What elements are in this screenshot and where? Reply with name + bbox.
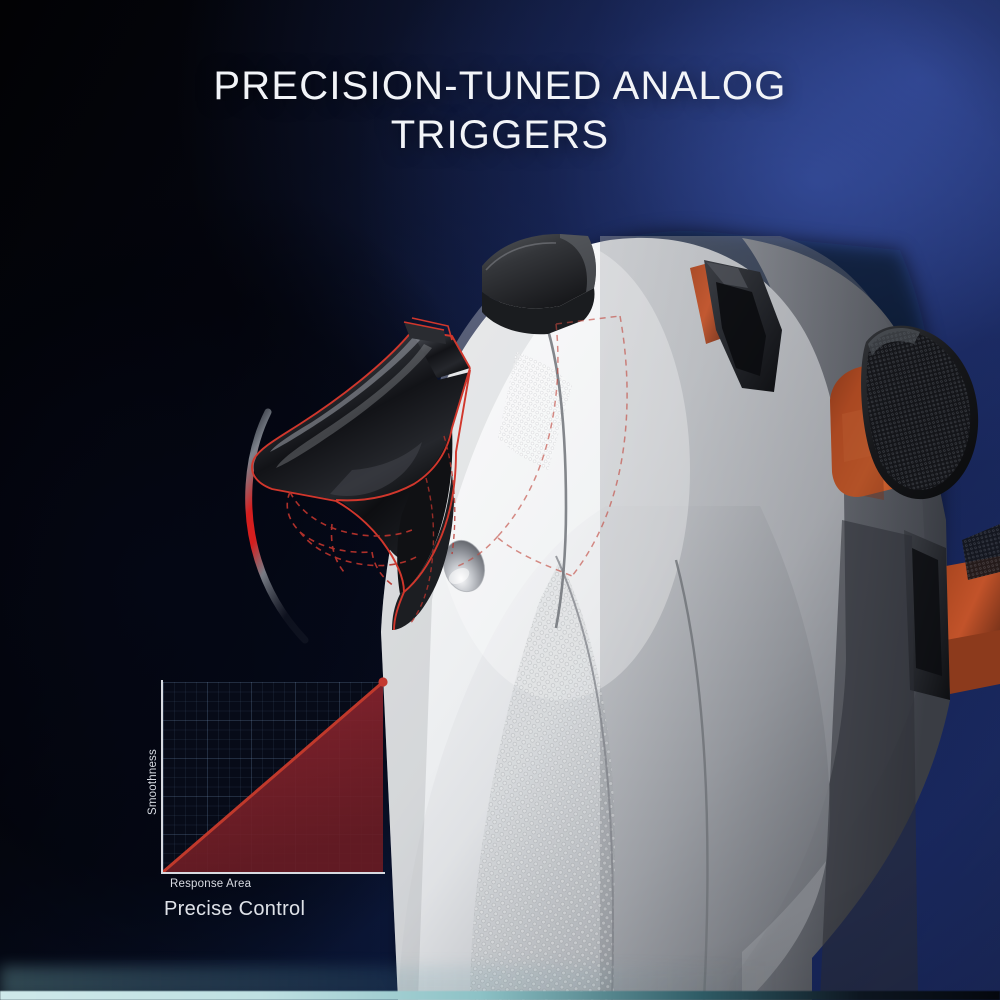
title-line-1: PRECISION-TUNED ANALOG <box>0 62 1000 111</box>
response-curve-chart: Smoothness Response Area Precise Control <box>138 670 398 920</box>
chart-x-axis-label: Response Area <box>170 878 251 890</box>
chart-y-axis-label: Smoothness <box>147 727 159 837</box>
chart-series <box>163 682 383 872</box>
chart-x-axis <box>161 872 385 874</box>
title-line-2: TRIGGERS <box>0 111 1000 160</box>
bottom-light-strip <box>0 991 1000 1000</box>
page-title: PRECISION-TUNED ANALOG TRIGGERS <box>0 62 1000 160</box>
chart-caption: Precise Control <box>164 898 305 921</box>
promo-banner: PRECISION-TUNED ANALOG TRIGGERS Smoothne… <box>0 0 1000 1000</box>
